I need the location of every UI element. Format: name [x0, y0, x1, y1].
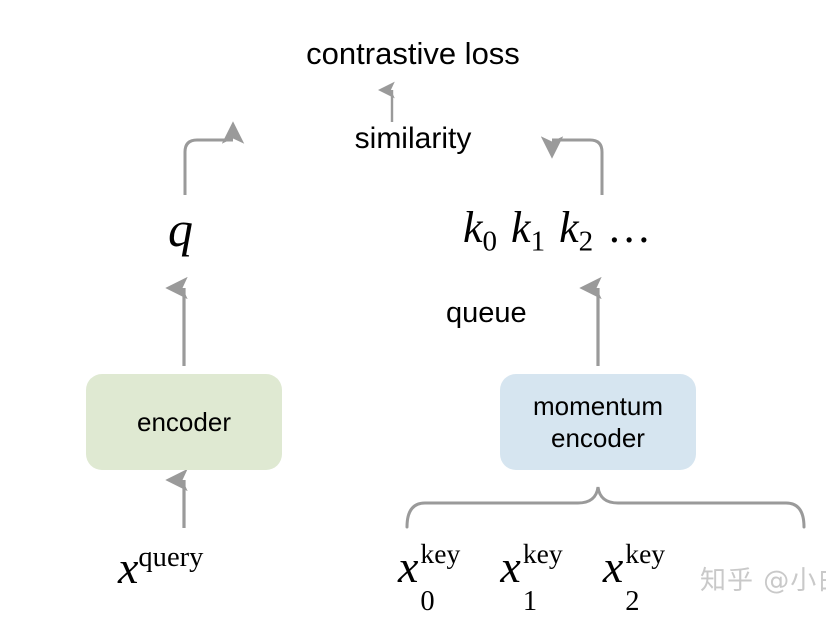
key-input-2: xkey2 [603, 543, 685, 591]
contrastive-loss-label: contrastive loss [0, 38, 826, 71]
key-input-2-subscript: 2 [625, 587, 639, 617]
zhihu-watermark: 知乎 @小白 [700, 560, 826, 597]
key-inputs-row: xkey0xkey1xkey2 [398, 543, 705, 591]
key-2-subscript: 2 [579, 226, 594, 258]
key-input-1-subscript: 1 [523, 587, 537, 617]
key-0-subscript: 0 [483, 226, 498, 258]
encoder-node[interactable]: encoder [86, 374, 282, 470]
key-input-0: xkey0 [398, 543, 480, 591]
momentum-encoder-label-line1: momentum [533, 391, 663, 421]
query-embedding-symbol: q [168, 203, 193, 256]
key-embedding-0: k0 [463, 203, 497, 252]
key-input-1-superscript: key [523, 540, 563, 569]
query-input-superscript: query [138, 542, 203, 573]
diagram-canvas: contrastive loss similarity queue q k0k1… [0, 0, 826, 634]
momentum-encoder-label-line2: encoder [551, 423, 645, 453]
momentum-encoder-label: momentum encoder [533, 390, 663, 454]
key-input-1: xkey1 [500, 543, 582, 591]
momentum-encoder-node[interactable]: momentum encoder [500, 374, 696, 470]
key-input-0-superscript: key [420, 540, 460, 569]
key-embeddings-row: k0k1k2… [463, 205, 653, 257]
key-inputs-brace [407, 487, 804, 527]
diagram-connectors [0, 0, 826, 634]
query-input-symbol: xquery [118, 543, 203, 592]
key-input-0-subscript: 0 [420, 587, 434, 617]
key-embedding-2: k2 [559, 203, 593, 252]
encoder-label: encoder [137, 406, 231, 438]
key-1-subscript: 1 [531, 226, 546, 258]
queue-label: queue [446, 298, 527, 328]
key-input-2-superscript: key [625, 540, 665, 569]
keys-ellipsis: … [607, 203, 653, 252]
key-embedding-1: k1 [511, 203, 545, 252]
similarity-label: similarity [0, 123, 826, 155]
